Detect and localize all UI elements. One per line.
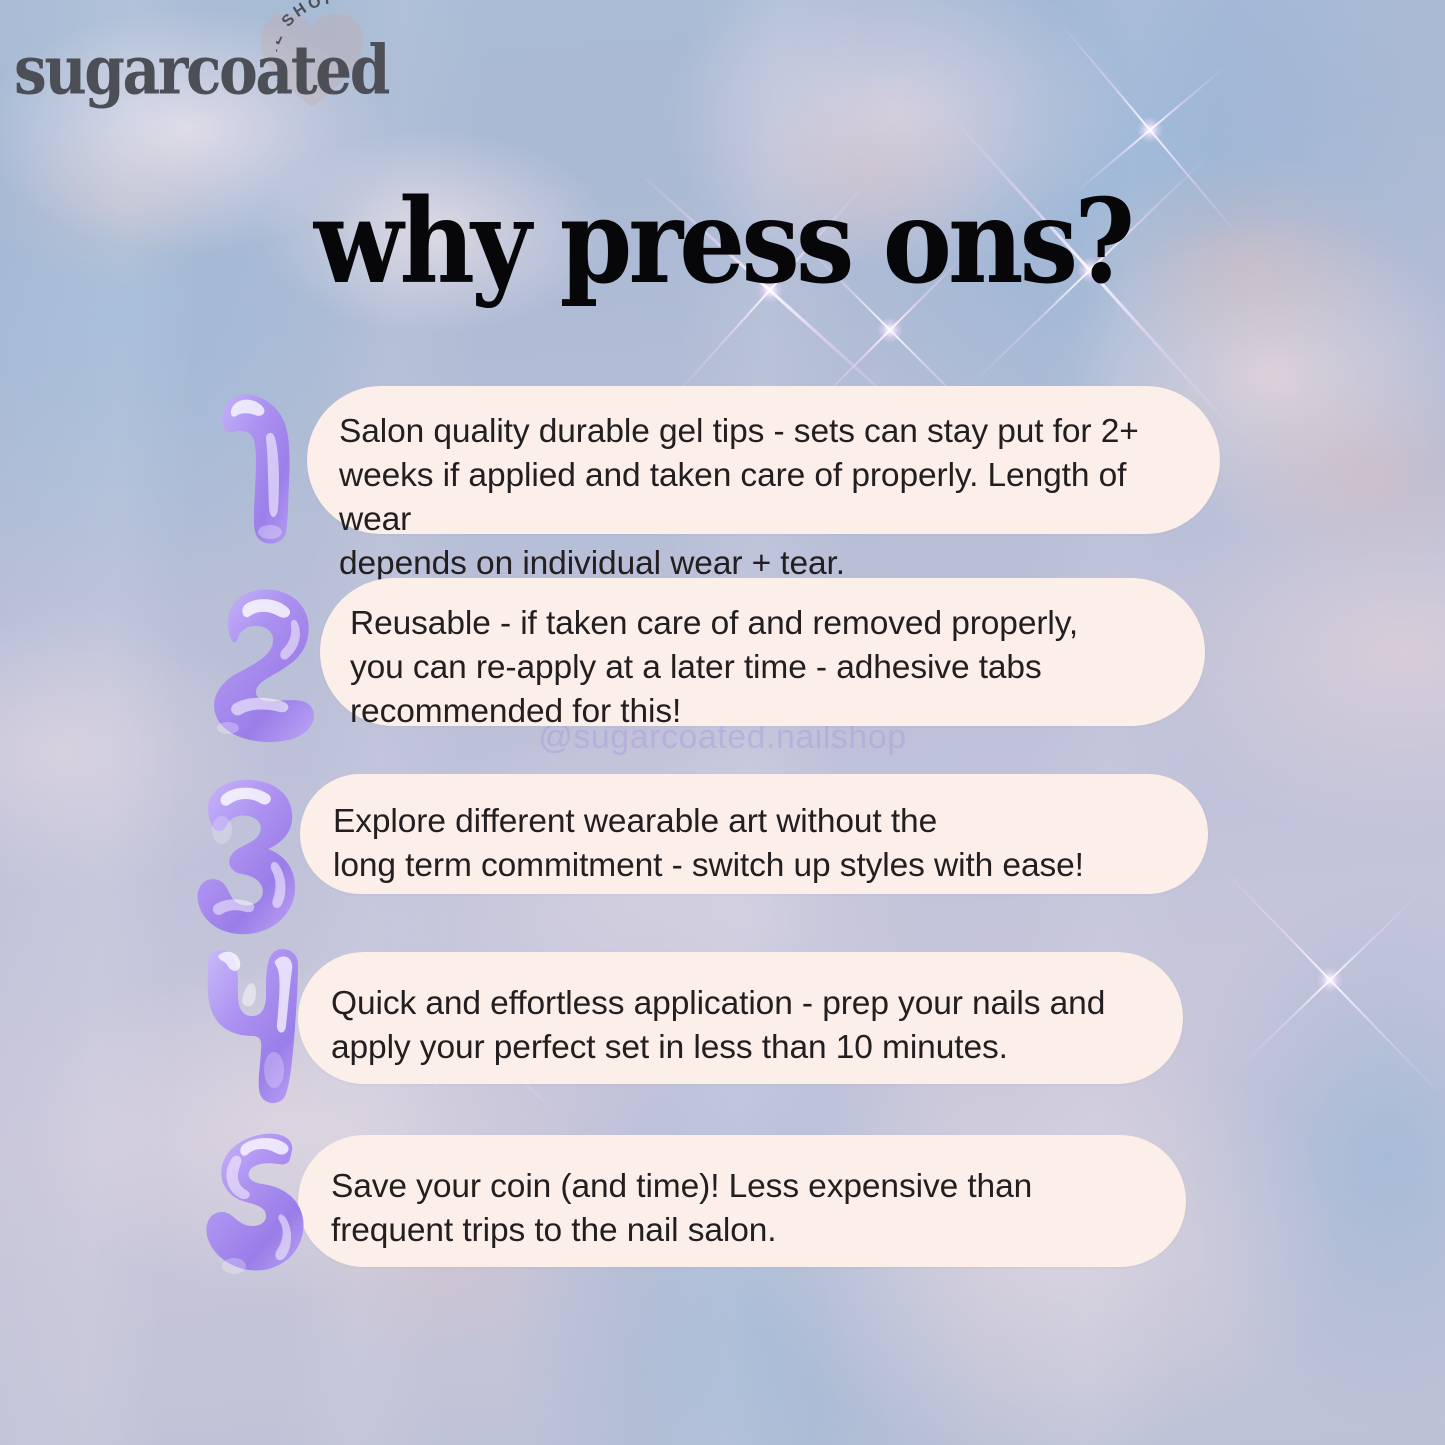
logo-arc-label: NAIL SHOP [276, 0, 339, 84]
benefit-number-2 [198, 578, 328, 748]
benefit-number-1 [200, 380, 330, 550]
page-title: why press ons? [0, 172, 1445, 310]
benefit-text: Salon quality durable gel tips - sets ca… [339, 410, 1180, 586]
brand-logo: sugarcoated NAIL SHOP [8, 2, 408, 120]
benefit-text: Explore different wearable art without t… [333, 800, 1168, 888]
svg-text:NAIL SHOP: NAIL SHOP [276, 0, 339, 84]
benefit-card: Salon quality durable gel tips - sets ca… [307, 386, 1220, 534]
number-5-icon [192, 1128, 322, 1298]
number-3-icon [182, 772, 312, 942]
benefit-number-4 [190, 940, 320, 1110]
benefit-card: Quick and effortless application - prep … [298, 952, 1183, 1084]
number-1-icon [200, 380, 330, 550]
number-4-icon [190, 940, 320, 1110]
infographic-canvas: sugarcoated NAIL SHOP why press ons? @su… [0, 0, 1445, 1445]
benefit-card: Save your coin (and time)! Less expensiv… [298, 1135, 1186, 1267]
benefit-text: Save your coin (and time)! Less expensiv… [331, 1165, 1146, 1253]
benefit-card: Reusable - if taken care of and removed … [320, 578, 1205, 726]
benefit-number-5 [192, 1128, 322, 1298]
benefit-text: Quick and effortless application - prep … [331, 982, 1143, 1070]
benefit-card: Explore different wearable art without t… [300, 774, 1208, 894]
benefit-text: Reusable - if taken care of and removed … [350, 602, 1165, 734]
logo-arc-text: NAIL SHOP [276, 0, 416, 130]
benefit-number-3 [182, 772, 312, 942]
number-2-icon [198, 578, 328, 748]
